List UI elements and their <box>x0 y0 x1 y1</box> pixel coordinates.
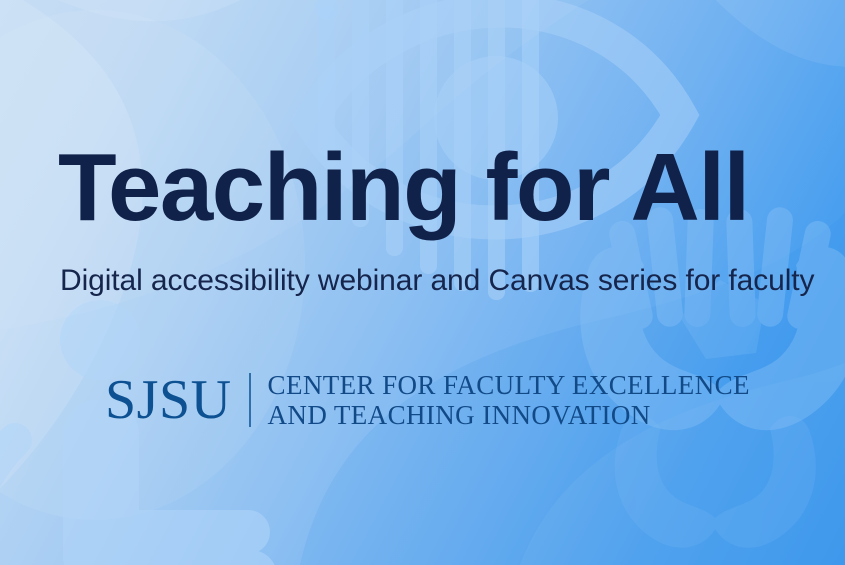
logo-center-name: CENTER FOR FACULTY EXCELLENCE AND TEACHI… <box>268 370 750 430</box>
logo-divider <box>249 373 251 427</box>
teaching-for-all-banner: Teaching for All Digital accessibility w… <box>0 0 845 565</box>
page-subtitle: Digital accessibility webinar and Canvas… <box>60 264 814 297</box>
banner-content: Teaching for All Digital accessibility w… <box>0 0 845 565</box>
sjsu-wordmark: SJSU <box>105 372 232 428</box>
logo-center-line-2: AND TEACHING INNOVATION <box>268 400 750 430</box>
page-title: Teaching for All <box>58 140 749 236</box>
logo-center-line-1: CENTER FOR FACULTY EXCELLENCE <box>268 370 750 400</box>
sjsu-cfeti-logo-lockup: SJSU CENTER FOR FACULTY EXCELLENCE AND T… <box>105 370 750 430</box>
